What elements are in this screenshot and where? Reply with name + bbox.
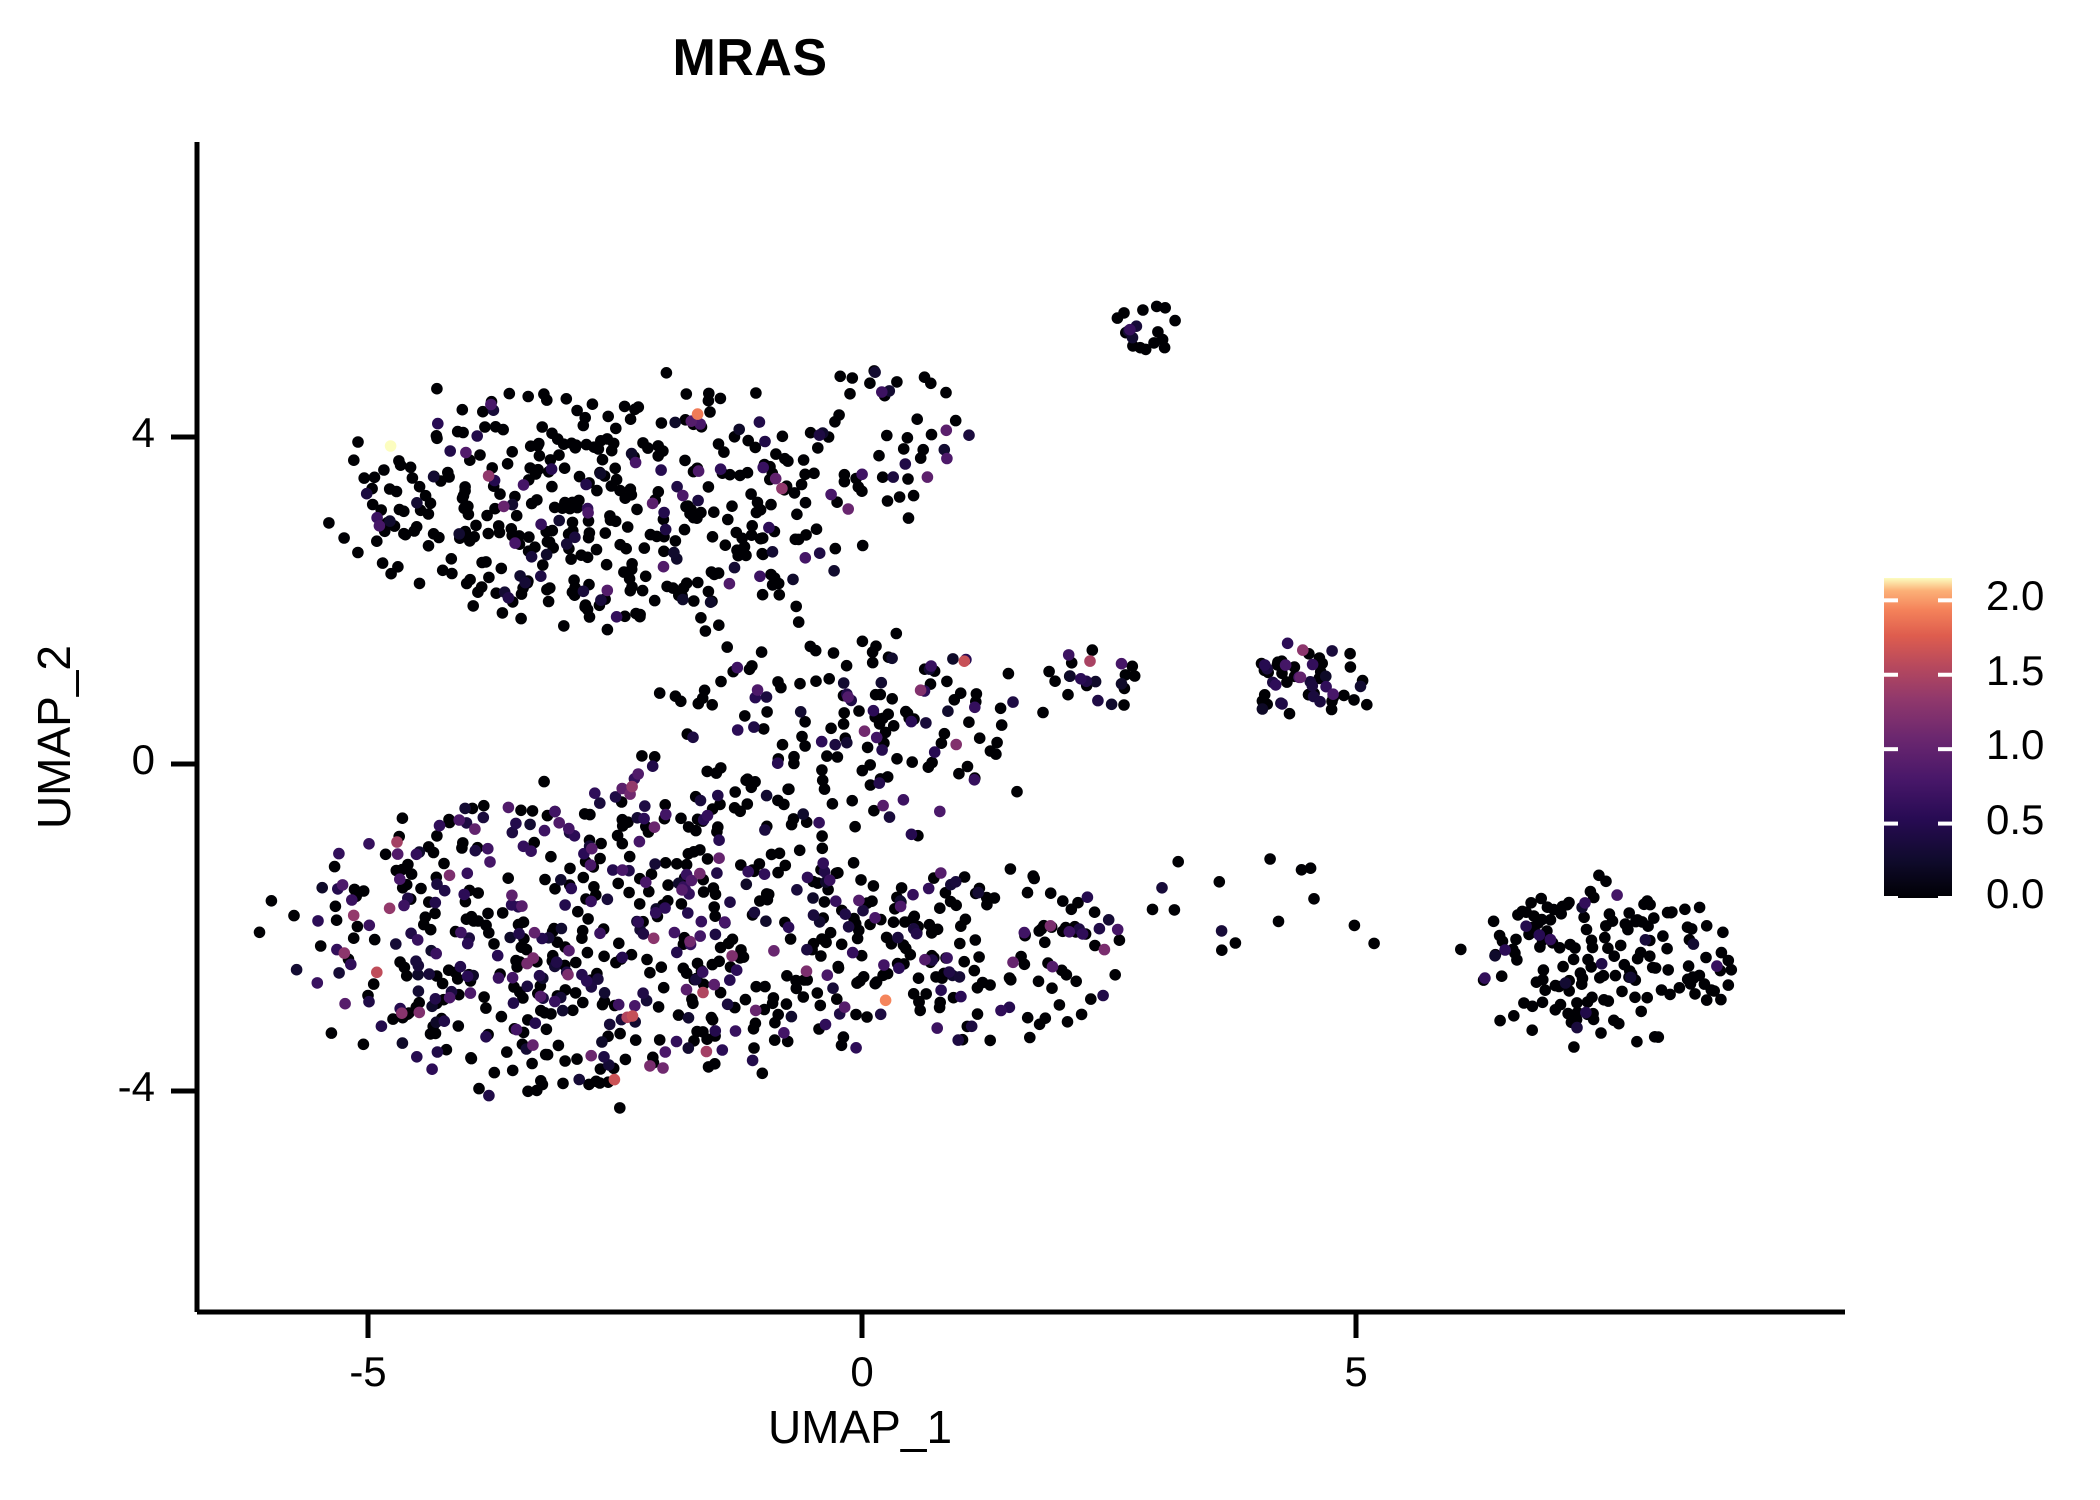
data-point (571, 1053, 583, 1065)
data-point (683, 848, 695, 860)
data-point (358, 1039, 370, 1051)
data-point (1644, 899, 1656, 911)
data-point (739, 710, 751, 722)
data-point (1116, 658, 1128, 670)
data-point (1075, 673, 1087, 685)
data-point (468, 531, 480, 543)
data-point (392, 848, 404, 860)
data-point (891, 376, 903, 388)
data-point (669, 927, 681, 939)
data-point (553, 515, 565, 527)
data-point (539, 1007, 551, 1019)
data-point (794, 845, 806, 857)
data-point (1070, 976, 1082, 988)
data-point (614, 1102, 626, 1114)
data-point (761, 790, 773, 802)
data-point (522, 391, 534, 403)
data-point (828, 647, 840, 659)
data-point (821, 750, 833, 762)
data-point (516, 900, 528, 912)
data-point (832, 751, 844, 763)
data-point (632, 768, 644, 780)
data-point (312, 977, 324, 989)
data-point (888, 916, 900, 928)
data-point (316, 882, 328, 894)
data-point (720, 539, 732, 551)
data-point (1674, 982, 1686, 994)
colorbar-gradient (1884, 578, 1952, 898)
data-point (492, 950, 504, 962)
data-point (439, 885, 451, 897)
data-point (254, 927, 266, 939)
data-point (911, 413, 923, 425)
data-point (483, 470, 495, 482)
data-point (1716, 947, 1728, 959)
data-point (557, 1078, 569, 1090)
data-point (585, 896, 597, 908)
data-point (1550, 980, 1562, 992)
data-point (1087, 644, 1099, 656)
data-point (374, 520, 386, 532)
data-point (793, 616, 805, 628)
data-point (658, 982, 670, 994)
data-point (331, 914, 343, 926)
data-point (715, 676, 727, 688)
data-point (489, 1067, 501, 1079)
data-point (755, 504, 767, 516)
data-point (807, 892, 819, 904)
data-point (402, 859, 414, 871)
data-point (518, 479, 530, 491)
data-point (587, 398, 599, 410)
data-point (996, 719, 1008, 731)
data-point (637, 987, 649, 999)
data-point (934, 1002, 946, 1014)
data-point (594, 1077, 606, 1089)
data-point (869, 366, 881, 378)
data-point (662, 879, 674, 891)
data-point (857, 905, 869, 917)
data-point (1518, 997, 1530, 1009)
data-point (827, 982, 839, 994)
data-point (706, 566, 718, 578)
data-point (639, 800, 651, 812)
data-point (862, 742, 874, 754)
data-point (595, 594, 607, 606)
data-point (288, 910, 300, 922)
data-point (1629, 992, 1641, 1004)
data-point (602, 411, 614, 423)
data-point (950, 739, 962, 751)
data-point (1537, 997, 1549, 1009)
data-point (397, 1037, 409, 1049)
data-point (781, 998, 793, 1010)
data-point (640, 571, 652, 583)
data-point (1579, 897, 1591, 909)
data-point (869, 912, 881, 924)
data-point (1631, 1036, 1643, 1048)
data-point (923, 883, 935, 895)
data-point (708, 979, 720, 991)
data-point (679, 524, 691, 536)
data-point (465, 987, 477, 999)
data-point (582, 913, 594, 925)
data-point (959, 655, 971, 667)
data-point (575, 549, 587, 561)
data-point (772, 1009, 784, 1021)
data-point (907, 889, 919, 901)
data-point (1027, 870, 1039, 882)
data-point (589, 787, 601, 799)
data-point (452, 426, 464, 438)
data-point (880, 995, 892, 1007)
data-point (660, 809, 672, 821)
data-point (1216, 944, 1228, 956)
data-point (629, 404, 641, 416)
data-point (836, 939, 848, 951)
data-point (734, 806, 746, 818)
data-point (970, 934, 982, 946)
data-point (1089, 906, 1101, 918)
data-point (658, 507, 670, 519)
data-point (913, 996, 925, 1008)
data-point (740, 994, 752, 1006)
data-point (626, 558, 638, 570)
data-point (423, 968, 435, 980)
data-point (614, 1028, 626, 1040)
data-point (1701, 994, 1713, 1006)
data-point (922, 471, 934, 483)
data-point (721, 641, 733, 653)
data-point (940, 387, 952, 399)
data-point (1063, 649, 1075, 661)
data-point (934, 902, 946, 914)
data-point (588, 881, 600, 893)
data-point (812, 442, 824, 454)
data-point (684, 936, 696, 948)
data-point (1109, 969, 1121, 981)
data-point (658, 546, 670, 558)
data-point (520, 577, 532, 589)
data-point (800, 497, 812, 509)
data-point (864, 377, 876, 389)
data-point (348, 454, 360, 466)
data-point (394, 873, 406, 885)
data-point (677, 490, 689, 502)
data-point (1327, 688, 1339, 700)
data-point (757, 589, 769, 601)
data-point (384, 903, 396, 915)
data-point (598, 1051, 610, 1063)
data-point (1510, 934, 1522, 946)
data-point (1585, 961, 1597, 973)
data-point (658, 561, 670, 573)
data-point (1665, 907, 1677, 919)
data-point (693, 465, 705, 477)
data-point (795, 706, 807, 718)
data-point (483, 528, 495, 540)
data-point (1689, 988, 1701, 1000)
data-point (1494, 1015, 1506, 1027)
data-point (898, 443, 910, 455)
data-point (841, 660, 853, 672)
data-point (1326, 704, 1338, 716)
data-point (352, 547, 364, 559)
data-point (510, 818, 522, 830)
data-point (1657, 930, 1669, 942)
data-point (878, 959, 890, 971)
data-point (736, 533, 748, 545)
data-point (457, 837, 469, 849)
colorbar-tick-label: 1.0 (1986, 721, 2044, 769)
data-point (683, 1042, 695, 1054)
data-point (902, 473, 914, 485)
data-point (1640, 934, 1652, 946)
data-point (844, 388, 856, 400)
data-point (570, 439, 582, 451)
data-point (411, 849, 423, 861)
data-point (799, 740, 811, 752)
data-point (472, 586, 484, 598)
data-point (1172, 856, 1184, 868)
data-point (483, 1090, 495, 1102)
data-point (563, 945, 575, 957)
data-point (337, 879, 349, 891)
data-point (701, 1046, 713, 1058)
data-point (345, 959, 357, 971)
data-point (1545, 934, 1557, 946)
data-point (926, 429, 938, 441)
data-point (423, 508, 435, 520)
data-point (805, 641, 817, 653)
data-point (797, 808, 809, 820)
data-point (1648, 912, 1660, 924)
data-point (1688, 938, 1700, 950)
data-point (681, 859, 693, 871)
data-point (617, 814, 629, 826)
data-point (1494, 930, 1506, 942)
data-point (785, 933, 797, 945)
data-point (724, 896, 736, 908)
data-point (817, 857, 829, 869)
data-point (1686, 923, 1698, 935)
data-point (657, 1062, 669, 1074)
data-point (330, 901, 342, 913)
data-point (570, 987, 582, 999)
data-point (935, 984, 947, 996)
data-point (829, 739, 841, 751)
data-point (682, 907, 694, 919)
data-point (777, 739, 789, 751)
data-point (400, 529, 412, 541)
data-point (1214, 876, 1226, 888)
data-point (609, 1074, 621, 1086)
data-point (819, 783, 831, 795)
data-point (582, 507, 594, 519)
data-point (762, 894, 774, 906)
data-point (1699, 978, 1711, 990)
data-point (507, 1065, 519, 1077)
data-point (546, 481, 558, 493)
data-point (361, 488, 373, 500)
data-point (1270, 679, 1282, 691)
data-point (585, 859, 597, 871)
data-point (630, 457, 642, 469)
data-point (1489, 950, 1501, 962)
data-point (549, 806, 561, 818)
data-point (856, 469, 868, 481)
data-point (649, 858, 661, 870)
data-point (838, 1031, 850, 1043)
data-point (452, 973, 464, 985)
data-point (816, 736, 828, 748)
data-point (493, 972, 505, 984)
data-point (911, 928, 923, 940)
data-point (1717, 927, 1729, 939)
data-point (848, 857, 860, 869)
data-point (535, 570, 547, 582)
data-point (678, 963, 690, 975)
data-point (952, 1034, 964, 1046)
data-point (742, 866, 754, 878)
data-point (479, 421, 491, 433)
data-point (925, 660, 937, 672)
data-point (380, 849, 392, 861)
data-point (611, 611, 623, 623)
data-point (670, 535, 682, 547)
colorbar-tick-label: 2.0 (1986, 572, 2044, 620)
data-point (841, 737, 853, 749)
data-point (602, 585, 614, 597)
data-point (857, 636, 869, 648)
data-point (1037, 707, 1049, 719)
data-point (418, 919, 430, 931)
data-point (629, 1000, 641, 1012)
data-point (598, 951, 610, 963)
data-point (799, 716, 811, 728)
data-point (642, 442, 654, 454)
data-point (515, 805, 527, 817)
data-point (509, 537, 521, 549)
data-point (602, 894, 614, 906)
data-point (453, 1020, 465, 1032)
data-point (558, 438, 570, 450)
data-point (523, 531, 535, 543)
data-point (494, 527, 506, 539)
data-point (694, 868, 706, 880)
data-point (973, 951, 985, 963)
data-point (1103, 914, 1115, 926)
data-point (312, 915, 324, 927)
data-point (1649, 1031, 1661, 1043)
data-point (485, 399, 497, 411)
data-point (868, 880, 880, 892)
data-point (963, 716, 975, 728)
data-point (633, 916, 645, 928)
data-point (578, 872, 590, 884)
data-point (369, 934, 381, 946)
data-point (1496, 970, 1508, 982)
data-point (791, 884, 803, 896)
data-point (513, 928, 525, 940)
data-point (638, 813, 650, 825)
data-point (1039, 937, 1051, 949)
data-point (339, 998, 351, 1010)
data-point (702, 810, 714, 822)
data-point (1094, 923, 1106, 935)
data-point (503, 802, 515, 814)
data-point (1623, 907, 1635, 919)
data-point (775, 682, 787, 694)
data-point (530, 468, 542, 480)
data-point (781, 970, 793, 982)
data-point (617, 952, 629, 964)
data-point (710, 889, 722, 901)
data-point (873, 450, 885, 462)
data-point (769, 1034, 781, 1046)
data-point (742, 773, 754, 785)
data-point (1140, 344, 1152, 356)
data-point (875, 689, 887, 701)
data-point (534, 450, 546, 462)
data-point (566, 883, 578, 895)
y-tick-label: 0 (35, 736, 155, 784)
data-point (1114, 934, 1126, 946)
data-point (428, 528, 440, 540)
data-point (707, 959, 719, 971)
data-point (494, 488, 506, 500)
data-point (1611, 889, 1623, 901)
data-point (941, 676, 953, 688)
data-point (788, 758, 800, 770)
data-point (483, 572, 495, 584)
data-point (527, 952, 539, 964)
data-point (613, 938, 625, 950)
data-point (703, 481, 715, 493)
data-point (541, 549, 553, 561)
data-point (1538, 964, 1550, 976)
data-point (1320, 671, 1332, 683)
data-point (1230, 937, 1242, 949)
data-point (681, 388, 693, 400)
data-point (443, 964, 455, 976)
data-point (838, 718, 850, 730)
data-point (326, 1027, 338, 1039)
data-point (497, 907, 509, 919)
data-point (929, 746, 941, 758)
data-point (802, 872, 814, 884)
data-point (430, 993, 442, 1005)
data-point (634, 836, 646, 848)
data-point (855, 874, 867, 886)
data-point (371, 967, 383, 979)
data-point (457, 404, 469, 416)
data-point (367, 499, 379, 511)
data-point (790, 601, 802, 613)
data-point (363, 838, 375, 850)
data-point (580, 479, 592, 491)
data-point (1568, 954, 1580, 966)
data-point (787, 574, 799, 586)
data-point (1587, 942, 1599, 954)
data-point (843, 921, 855, 933)
data-point (392, 561, 404, 573)
data-point (631, 504, 643, 516)
data-point (842, 503, 854, 515)
data-point (893, 962, 905, 974)
data-point (291, 964, 303, 976)
data-point (799, 469, 811, 481)
